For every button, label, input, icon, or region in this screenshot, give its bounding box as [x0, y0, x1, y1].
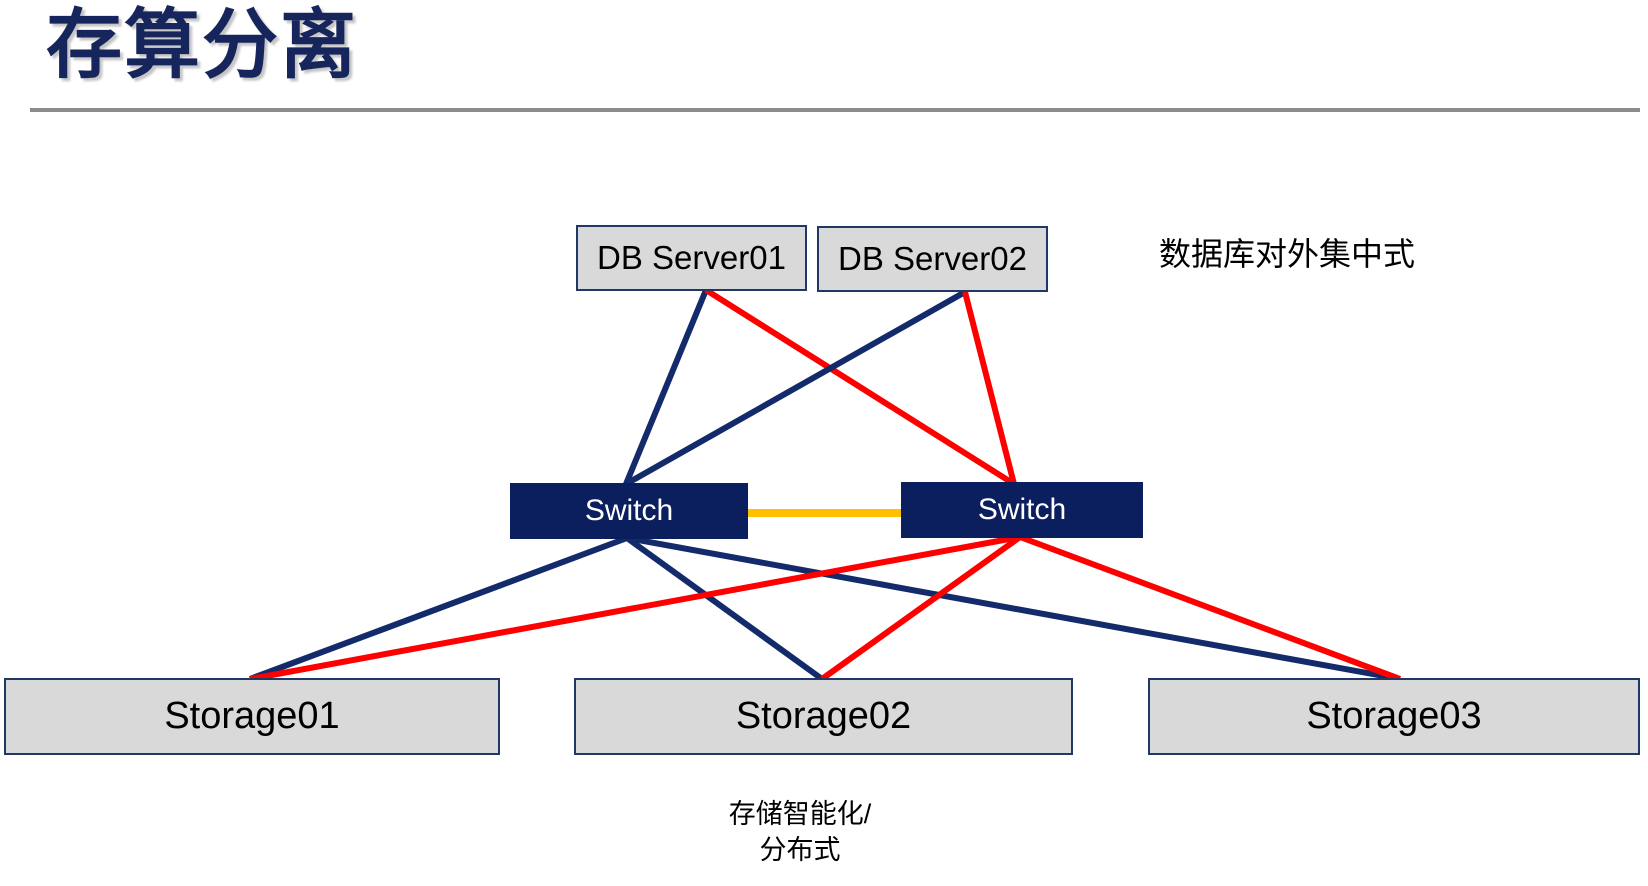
node-storage-03[interactable]: Storage03	[1148, 678, 1640, 755]
link-switch-right-storage03	[1020, 537, 1400, 679]
node-switch-left[interactable]: Switch	[510, 483, 748, 539]
link-switch-left-storage03	[627, 538, 1400, 679]
node-switch-right[interactable]: Switch	[901, 482, 1143, 538]
link-db01-switch-left	[626, 290, 706, 484]
link-db01-switch-right	[706, 290, 1014, 484]
link-switch-right-storage01	[250, 537, 1020, 679]
node-db-server-01[interactable]: DB Server01	[576, 225, 807, 291]
annotation-database-note: 数据库对外集中式	[1159, 229, 1415, 275]
node-db-server-02[interactable]: DB Server02	[817, 226, 1048, 292]
slide-canvas: 存算分离 DB Server01 DB Server02 Switch Swit…	[0, 0, 1648, 886]
link-db02-switch-left	[626, 292, 965, 484]
annotation-storage-note-line2: 分布式	[650, 833, 950, 869]
link-switch-left-storage01	[250, 538, 627, 679]
annotation-storage-note-line1: 存储智能化/	[650, 797, 950, 833]
node-storage-02[interactable]: Storage02	[574, 678, 1073, 755]
link-switch-left-storage02	[627, 538, 822, 679]
annotation-storage-note: 存储智能化/ 分布式	[650, 797, 950, 868]
node-storage-01[interactable]: Storage01	[4, 678, 500, 755]
